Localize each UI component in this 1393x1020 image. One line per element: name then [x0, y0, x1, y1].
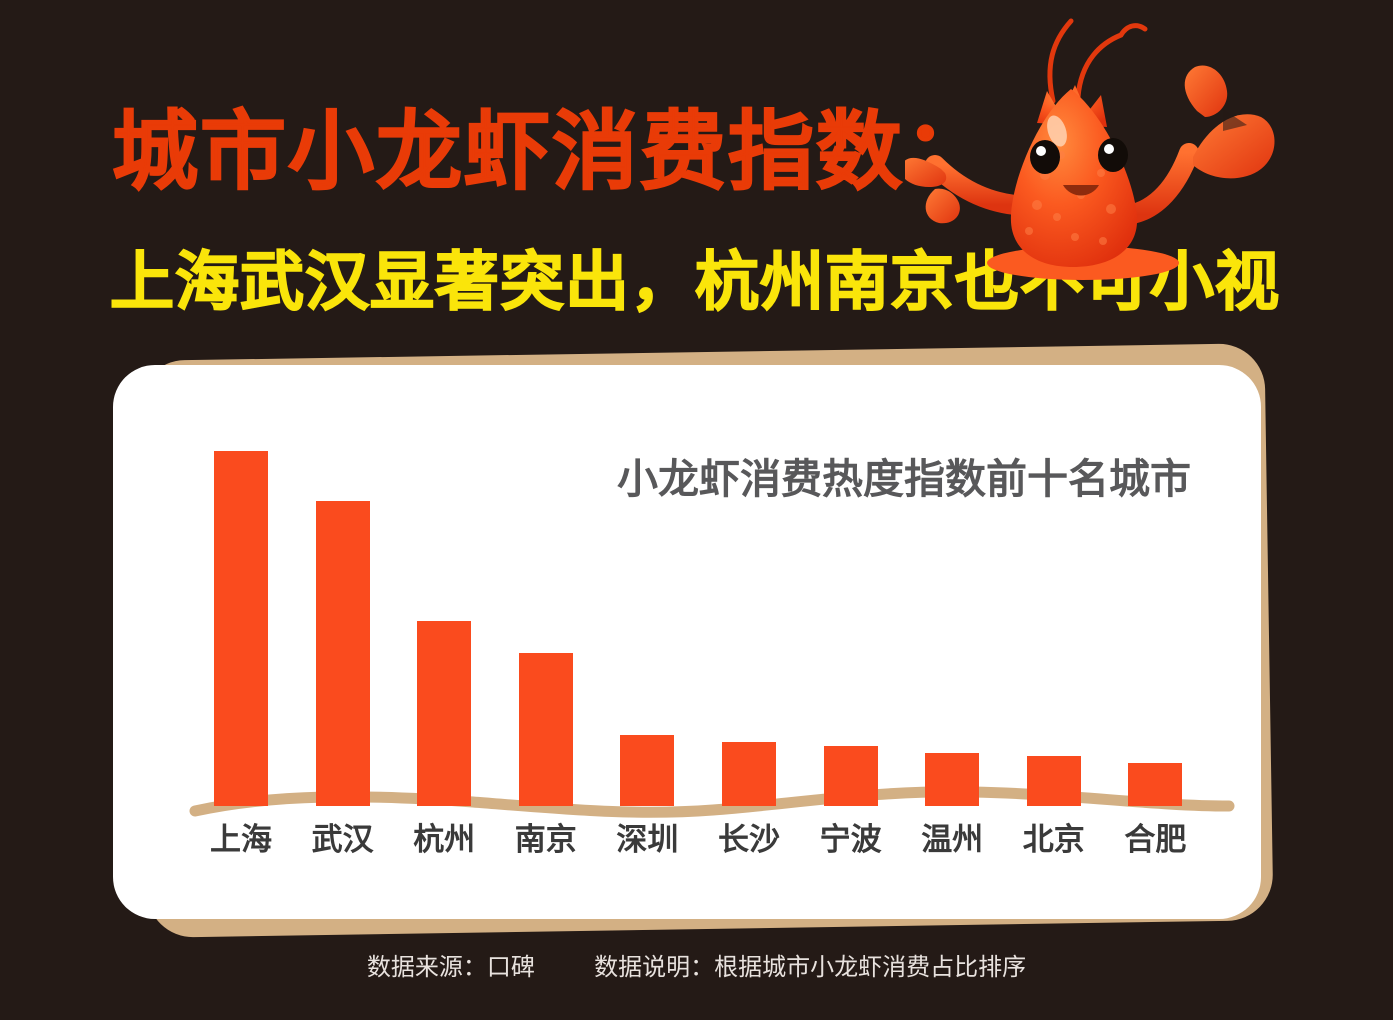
bar-2	[417, 621, 471, 806]
bar-1	[316, 501, 370, 806]
bar-9	[1128, 763, 1182, 806]
bar-7	[925, 753, 979, 806]
data-source-label: 数据来源：口碑	[367, 950, 535, 984]
crayfish-mascot-icon	[905, 5, 1285, 295]
bar-6	[824, 746, 878, 806]
bar-3	[519, 653, 573, 806]
infographic-poster: 城市小龙虾消费指数： 上海武汉显著突出，杭州南京也不可小视	[0, 0, 1393, 1020]
x-tick-label-9: 合肥	[1095, 821, 1215, 859]
bar-4	[620, 735, 674, 806]
page-title: 城市小龙虾消费指数：	[112, 104, 992, 200]
bar-5	[722, 742, 776, 806]
data-note-label: 数据说明：根据城市小龙虾消费占比排序	[594, 950, 1026, 984]
headline-block: 城市小龙虾消费指数： 上海武汉显著突出，杭州南京也不可小视	[0, 0, 1393, 340]
footer: 数据来源：口碑 数据说明：根据城市小龙虾消费占比排序	[0, 950, 1393, 984]
bar-chart: 上海 武汉 杭州 南京 深圳 长沙 宁波 温州 北京 合肥	[113, 365, 1261, 919]
baseline-wave	[113, 780, 1261, 820]
bar-0	[214, 451, 268, 806]
chart-card: 小龙虾消费热度指数前十名城市 上海 武汉 杭州 南京 深圳 长沙 宁波	[113, 365, 1261, 919]
page-subtitle: 上海武汉显著突出，杭州南京也不可小视	[110, 246, 1280, 320]
bar-8	[1027, 756, 1081, 806]
